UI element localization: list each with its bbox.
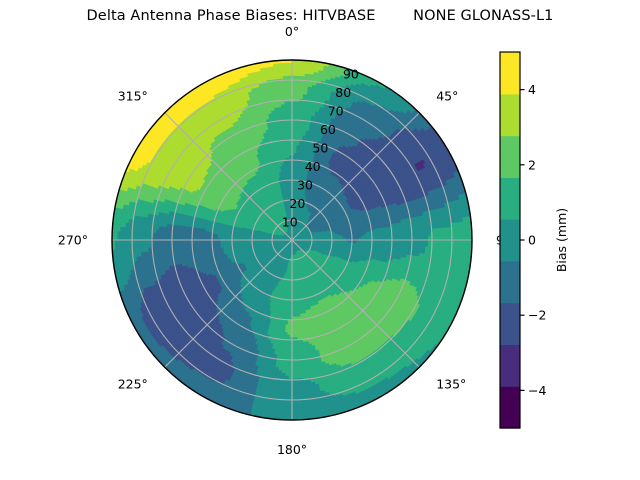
colorbar-axis-label: Bias (mm): [554, 208, 569, 272]
radial-tick-label-30: 30: [297, 178, 313, 193]
colorbar-band: [500, 303, 520, 345]
colorbar-band: [500, 94, 520, 136]
polar-axes: 0°45°90°135°180°225°270°315° 10203040506…: [0, 0, 640, 480]
colorbar-tick-label--4: −4: [528, 383, 546, 398]
azimuth-tick-label-225: 225°: [118, 377, 148, 392]
radial-tick-label-80: 80: [335, 85, 351, 100]
colorbar-tick-label-0: 0: [528, 233, 536, 248]
colorbar-band: [500, 261, 520, 303]
radial-tick-label-10: 10: [282, 215, 298, 230]
azimuth-tick-label-135: 135°: [436, 377, 466, 392]
figure-canvas: Delta Antenna Phase Biases: HITVBASE NON…: [0, 0, 640, 480]
azimuth-tick-label-180: 180°: [277, 442, 307, 457]
colorbar: −4−2024Bias (mm): [500, 52, 569, 429]
radial-tick-label-50: 50: [312, 141, 328, 156]
colorbar-band: [500, 136, 520, 178]
colorbar-band: [500, 52, 520, 94]
colorbar-band: [500, 344, 520, 386]
radial-tick-label-90: 90: [343, 67, 359, 82]
radial-tick-label-60: 60: [320, 122, 336, 137]
azimuth-tick-label-315: 315°: [118, 88, 148, 103]
radial-tick-label-70: 70: [328, 104, 344, 119]
azimuth-tick-label-270: 270°: [58, 233, 88, 248]
colorbar-tick-label--2: −2: [528, 308, 546, 323]
radial-tick-label-20: 20: [289, 196, 305, 211]
azimuth-tick-label-45: 45°: [436, 88, 458, 103]
polar-grid-layer: [112, 60, 472, 420]
colorbar-band: [500, 219, 520, 261]
radial-tick-label-40: 40: [305, 159, 321, 174]
colorbar-tick-label-4: 4: [528, 82, 536, 97]
colorbar-band: [500, 177, 520, 219]
azimuth-tick-label-0: 0°: [285, 24, 299, 39]
colorbar-band: [500, 386, 520, 428]
colorbar-tick-label-2: 2: [528, 157, 536, 172]
